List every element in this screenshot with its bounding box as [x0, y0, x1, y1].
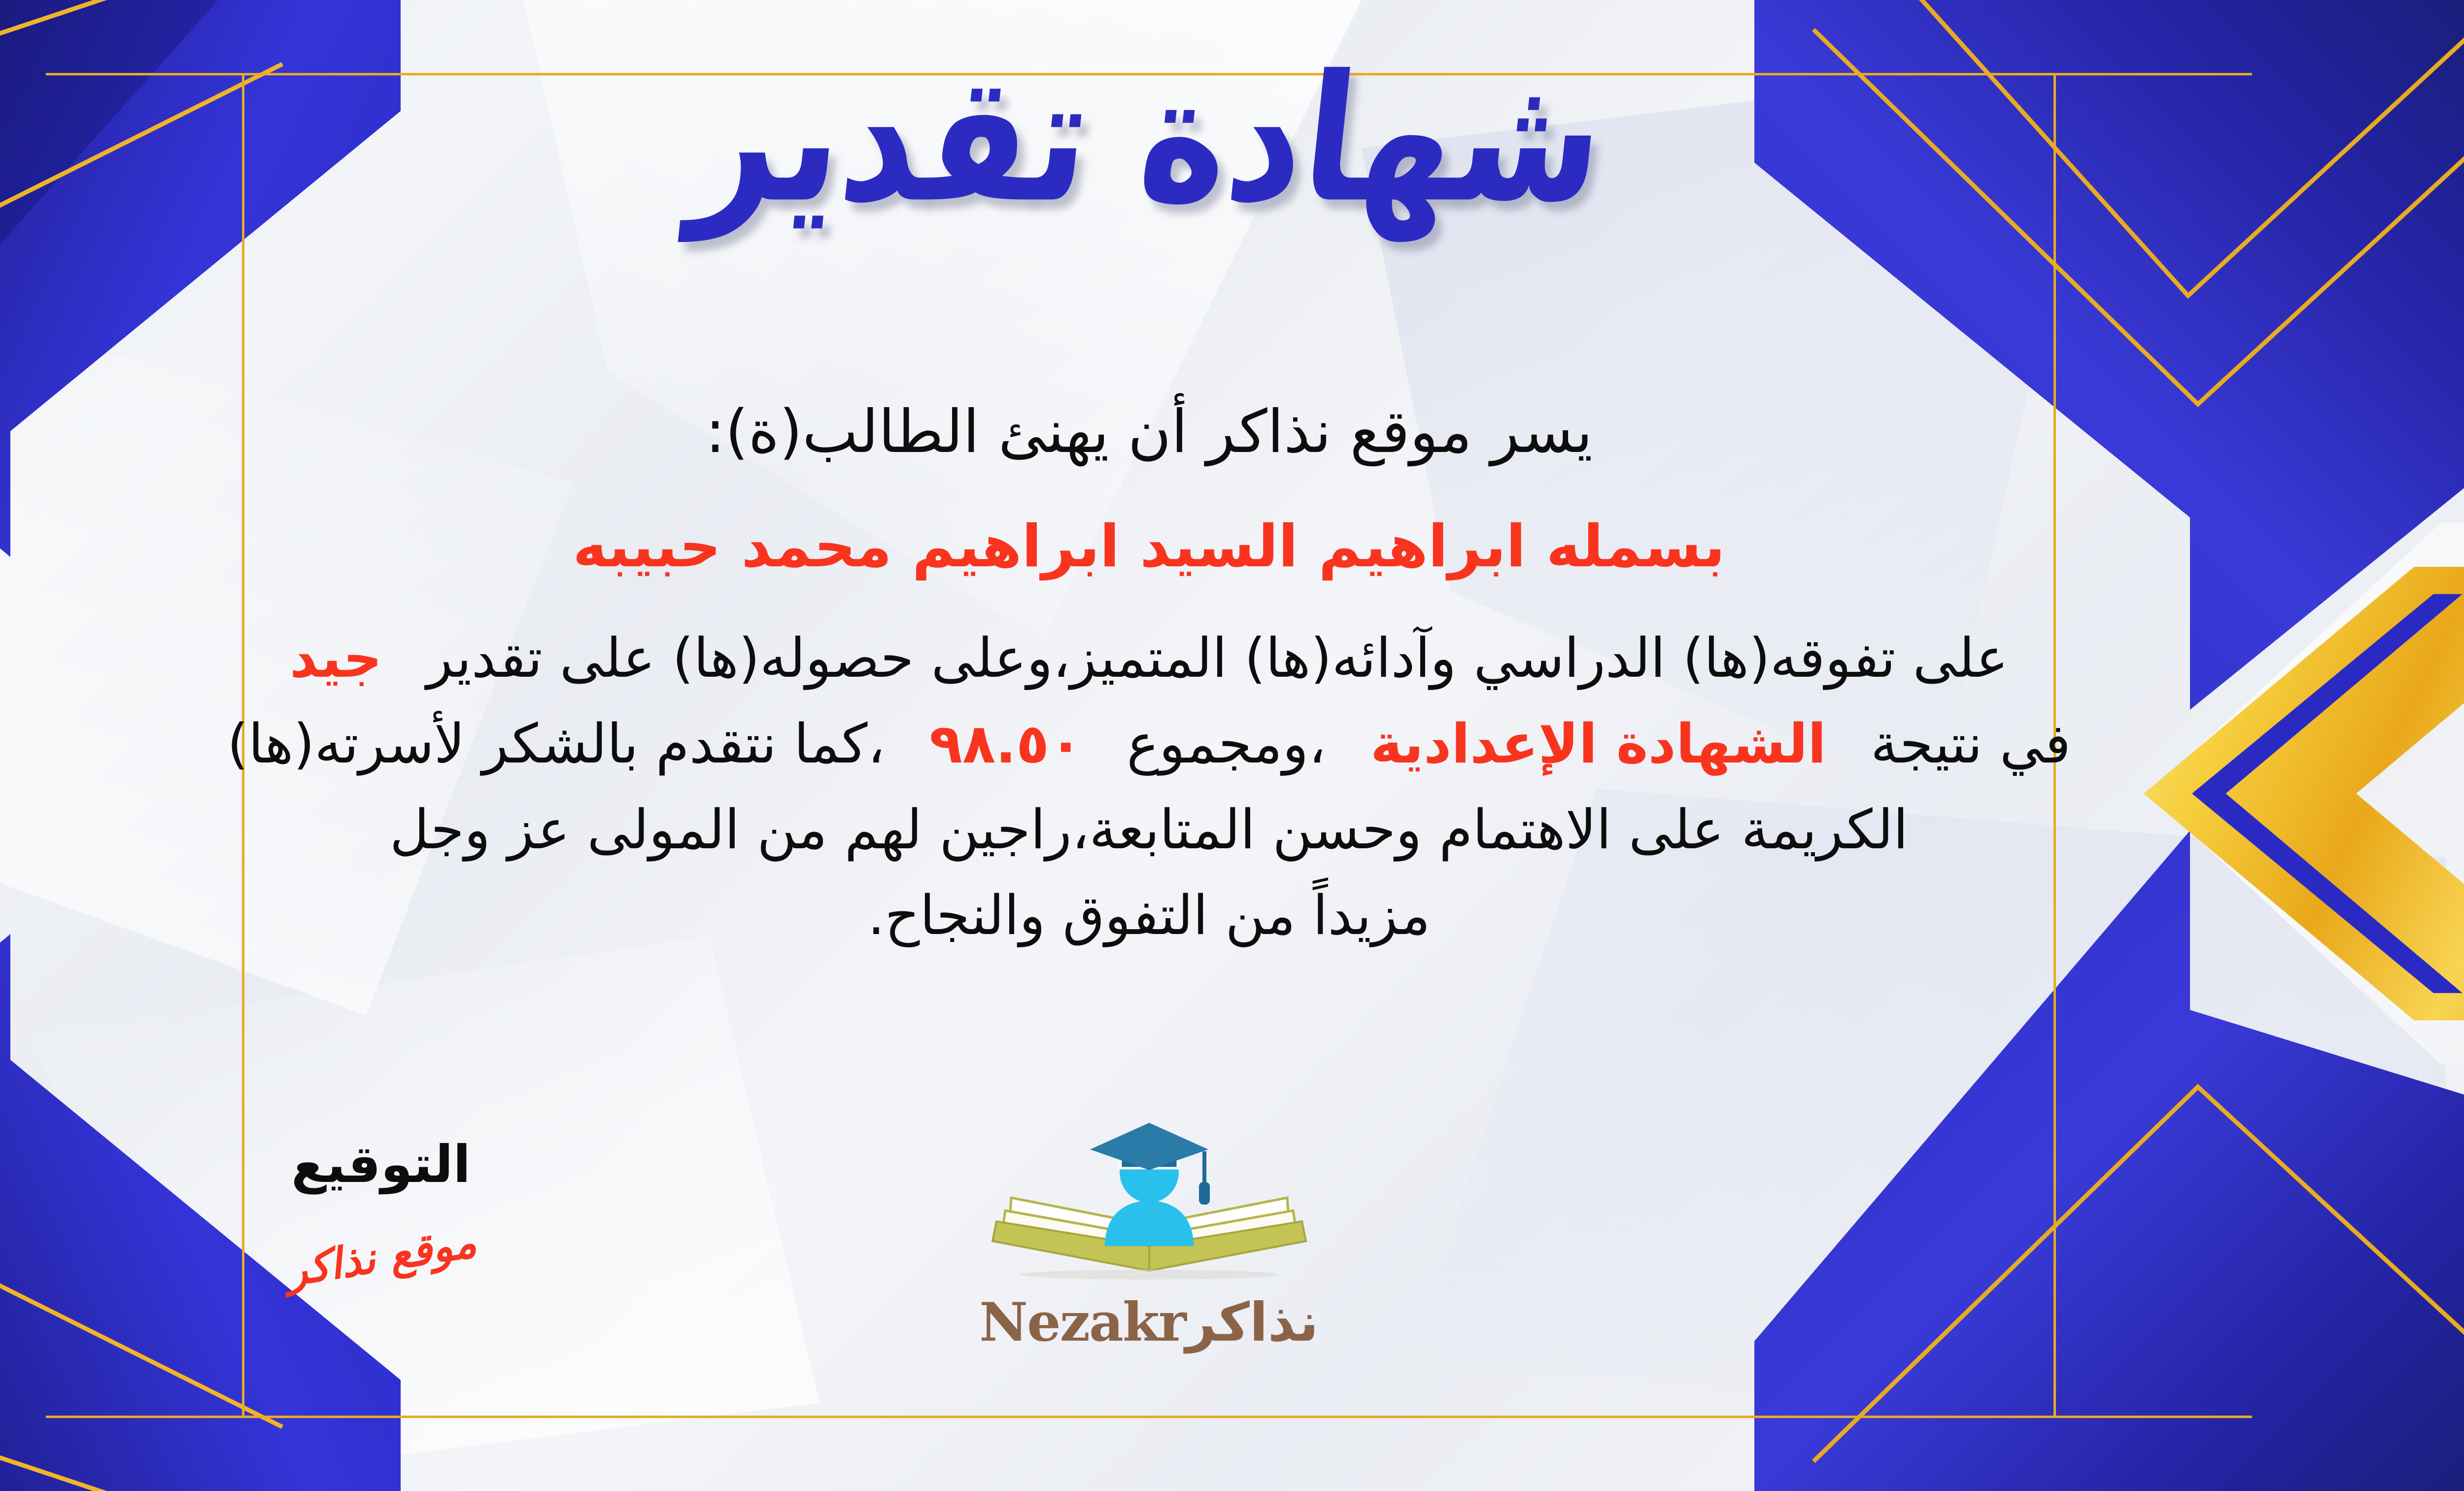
logo-wordmark: Nezakrنذاكر	[962, 1291, 1336, 1353]
certificate-page: شهادة تقدير يسر موقع نذاكر أن يهنئ الطال…	[0, 0, 2464, 1491]
graduation-book-icon	[962, 1119, 1336, 1286]
logo-latin-text: Nezakr	[979, 1291, 1185, 1353]
intro-line: يسر موقع نذاكر أن يهنئ الطالب(ة):	[70, 384, 2227, 480]
logo-mark	[962, 1119, 1336, 1286]
result-label: في نتيجة	[1871, 712, 2071, 775]
signature-label: التوقيع	[208, 1134, 553, 1195]
exam-name: الشهادة الإعدادية	[1370, 712, 1826, 775]
certificate-body: يسر موقع نذاكر أن يهنئ الطالب(ة): بسمله …	[70, 384, 2227, 959]
achievement-line-1: على تفوقه(ها) الدراسي وآدائه(ها) المتميز…	[70, 616, 2227, 701]
certificate-title: شهادة تقدير	[684, 39, 1613, 240]
grade-value: جيد	[290, 626, 382, 690]
frame-border-bottom	[46, 1416, 2252, 1418]
certificate-title-wrapper: شهادة تقدير	[0, 54, 2464, 224]
achievement-line-3: الكريمة على الاهتمام وحسن المتابعة،راجين…	[70, 787, 2227, 873]
signature-block: التوقيع موقع نذاكر	[208, 1134, 553, 1282]
thanks-text: ،كما نتقدم بالشكر لأسرته(ها)	[227, 712, 885, 775]
frame-border-top	[46, 73, 2252, 75]
logo-arabic-text: نذاكر	[1186, 1292, 1319, 1353]
achievement-line-4: مزيداً من التفوق والنجاح.	[70, 873, 2227, 959]
total-label: ،ومجموع	[1127, 712, 1326, 775]
signature-handwriting: موقع نذاكر	[282, 1217, 479, 1296]
total-score: ٩٨.٥٠	[929, 712, 1082, 775]
achievement-line-2: في نتيجةالشهادة الإعدادية،ومجموع٩٨.٥٠،كم…	[70, 701, 2227, 787]
achievement-paragraph: على تفوقه(ها) الدراسي وآدائه(ها) المتميز…	[70, 616, 2227, 958]
achievement-text-1: على تفوقه(ها) الدراسي وآدائه(ها) المتميز…	[426, 626, 2008, 690]
site-logo: Nezakrنذاكر	[962, 1119, 1336, 1353]
student-name: بسمله ابراهيم السيد ابراهيم محمد حبيبه	[70, 503, 2227, 590]
